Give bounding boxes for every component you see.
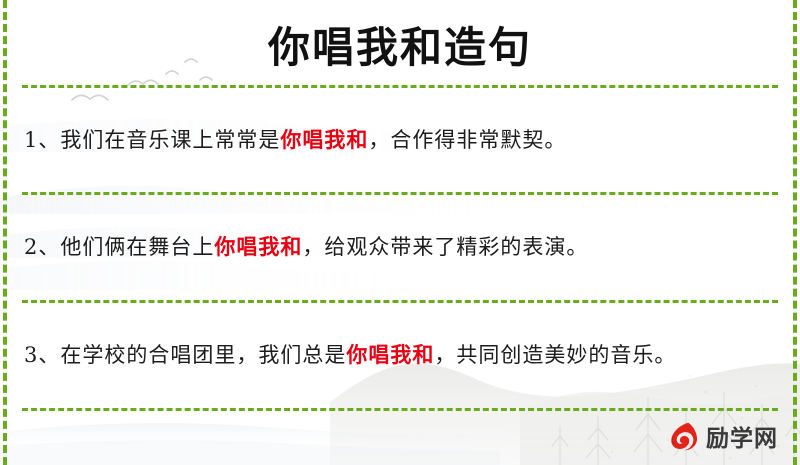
sentence-number-2: 2、 [24, 235, 60, 259]
content-column: 你唱我和造句 1、我们在音乐课上常常是你唱我和，合作得非常默契。 2、他们俩在舞… [0, 0, 800, 465]
sentence-text-after-1: ，合作得非常默契。 [368, 128, 566, 152]
sentence-text-after-2: ，给观众带来了精彩的表演。 [302, 235, 588, 259]
example-sentence-2: 2、他们俩在舞台上你唱我和，给观众带来了精彩的表演。 [22, 216, 778, 279]
worksheet-page: 你唱我和造句 1、我们在音乐课上常常是你唱我和，合作得非常默契。 2、他们俩在舞… [0, 0, 800, 465]
keyword-highlight-1: 你唱我和 [280, 127, 368, 152]
example-sentence-1: 1、我们在音乐课上常常是你唱我和，合作得非常默契。 [22, 109, 778, 172]
sentence-number-1: 1、 [24, 128, 60, 152]
divider-top [22, 85, 778, 88]
divider-2 [22, 300, 778, 303]
sentence-text-before-1: 我们在音乐课上常常是 [60, 128, 280, 152]
keyword-highlight-3: 你唱我和 [346, 342, 434, 367]
page-title: 你唱我和造句 [22, 0, 778, 85]
sentence-number-3: 3、 [24, 343, 60, 367]
sentence-text-before-3: 在学校的合唱团里，我们总是 [60, 343, 346, 367]
flame-swirl-icon [665, 419, 699, 453]
site-watermark: 励学网 [665, 419, 778, 453]
divider-bottom [22, 408, 778, 411]
example-sentence-3: 3、在学校的合唱团里，我们总是你唱我和，共同创造美妙的音乐。 [22, 324, 778, 387]
sentence-text-before-2: 他们俩在舞台上 [60, 235, 214, 259]
sentence-text-after-3: ，共同创造美妙的音乐。 [434, 343, 676, 367]
divider-1 [22, 192, 778, 195]
watermark-text: 励学网 [706, 419, 778, 453]
keyword-highlight-2: 你唱我和 [214, 234, 302, 259]
